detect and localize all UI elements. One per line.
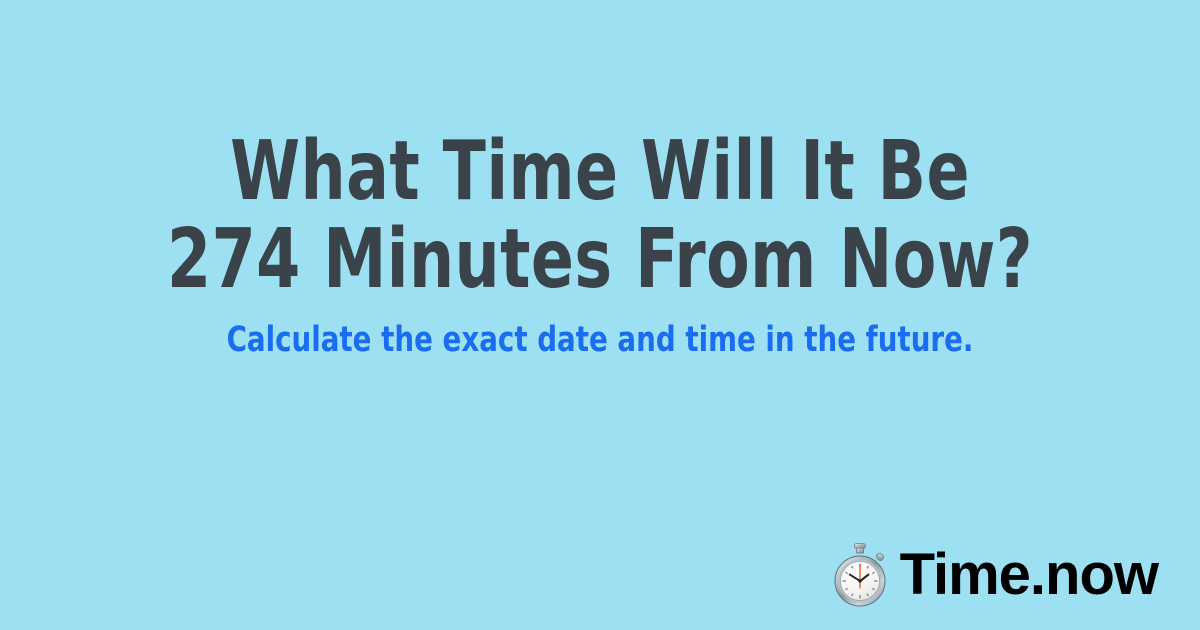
page-title-line-2: 274 Minutes From Now? <box>84 216 1116 304</box>
brand-name: Time.now <box>900 544 1158 606</box>
share-card: What Time Will It Be 274 Minutes From No… <box>0 0 1200 630</box>
stopwatch-icon <box>832 542 888 608</box>
page-title-line-1: What Time Will It Be <box>84 128 1116 216</box>
page-title: What Time Will It Be 274 Minutes From No… <box>0 128 1200 304</box>
page-subtitle: Calculate the exact date and time in the… <box>72 320 1128 360</box>
brand-lockup[interactable]: Time.now <box>832 542 1158 608</box>
